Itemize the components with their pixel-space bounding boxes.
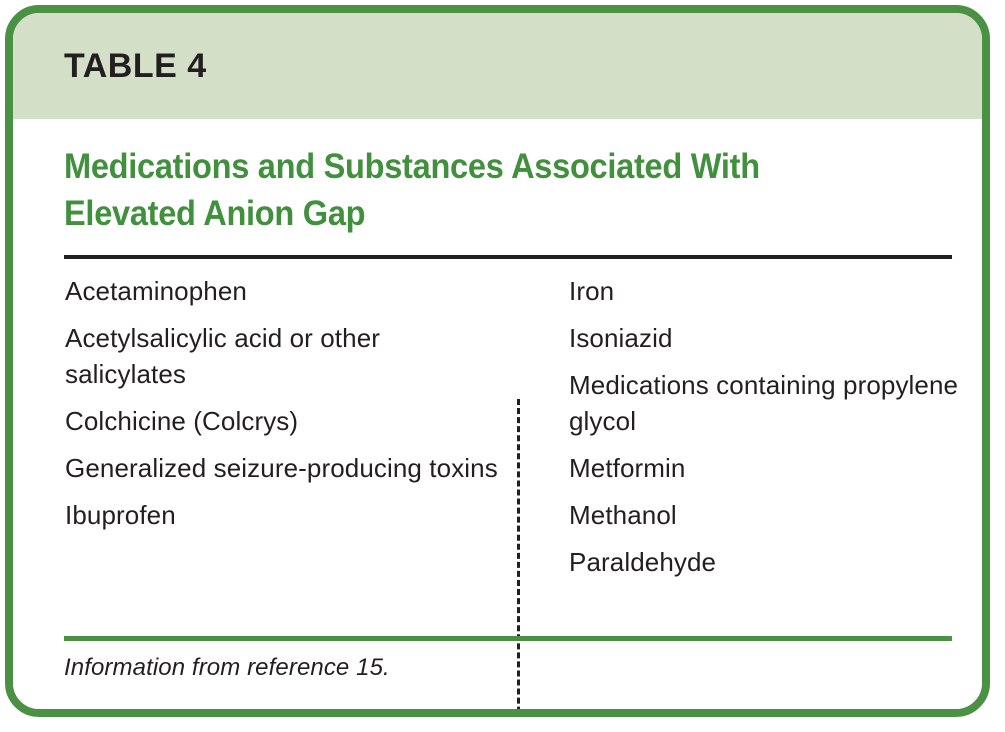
list-item: Iron xyxy=(569,273,959,309)
list-item: Acetaminophen xyxy=(65,273,505,309)
table-body: Medications and Substances Associated Wi… xyxy=(13,119,982,709)
column-divider-dashed xyxy=(517,399,520,717)
table-header-band: TABLE 4 xyxy=(13,13,982,119)
table-figure-page: TABLE 4 Medications and Substances Assoc… xyxy=(0,0,1005,732)
list-item: Colchicine (Colcrys) xyxy=(65,403,505,439)
footer-rule-green xyxy=(64,636,952,641)
list-item: Methanol xyxy=(569,497,959,533)
list-item: Acetylsalicylic acid or other salicylate… xyxy=(65,320,505,392)
list-item: Medications containing propylene glycol xyxy=(569,367,959,439)
list-item: Generalized seizure-producing toxins xyxy=(65,450,505,486)
list-item: Ibuprofen xyxy=(65,497,505,533)
table-column-right: Iron Isoniazid Medications containing pr… xyxy=(569,259,959,591)
table-columns: Acetaminophen Acetylsalicylic acid or ot… xyxy=(13,259,982,636)
table-footnote: Information from reference 15. xyxy=(64,654,390,682)
table-number-label: TABLE 4 xyxy=(64,49,207,83)
table-card: TABLE 4 Medications and Substances Assoc… xyxy=(5,5,990,717)
list-item: Metformin xyxy=(569,450,959,486)
list-item: Paraldehyde xyxy=(569,544,959,580)
table-title: Medications and Substances Associated Wi… xyxy=(64,143,836,237)
list-item: Isoniazid xyxy=(569,320,959,356)
table-column-left: Acetaminophen Acetylsalicylic acid or ot… xyxy=(65,259,505,544)
